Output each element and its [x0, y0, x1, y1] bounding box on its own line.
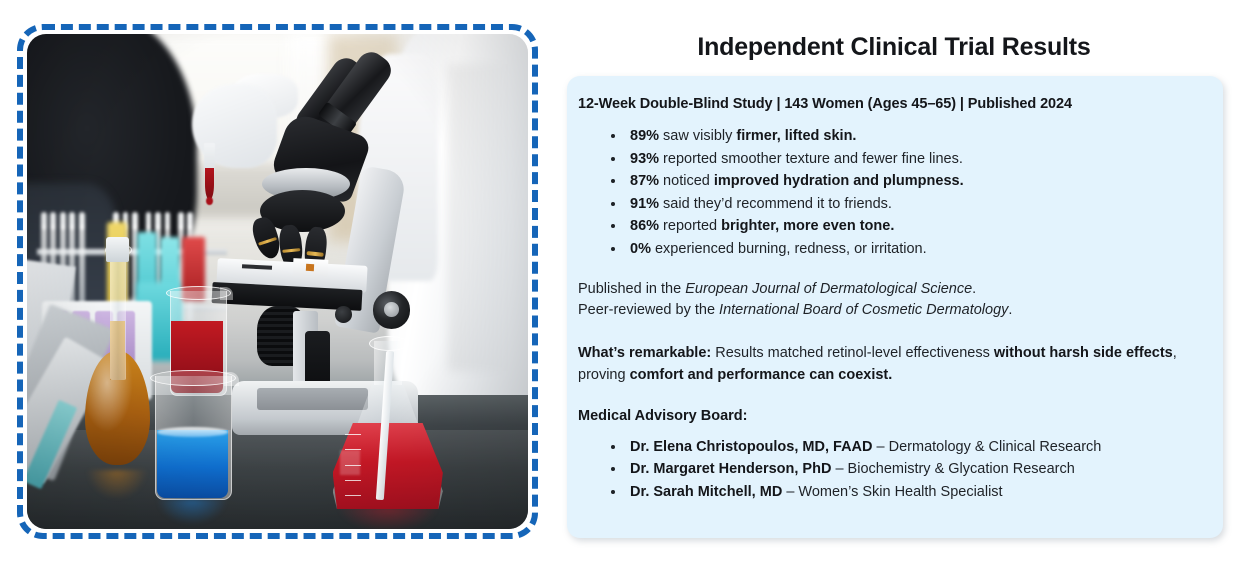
stat-text: reported smoother texture and fewer fine…: [659, 151, 963, 167]
list-item: 89% saw visibly firmer, lifted skin.: [626, 125, 1201, 148]
peer-review-suffix: .: [1008, 302, 1012, 318]
stat-emphasis: brighter, more even tone.: [721, 218, 894, 234]
peer-review-prefix: Peer-reviewed by the: [578, 302, 719, 318]
laboratory-microscope-photo: [27, 34, 528, 529]
publication-suffix: .: [972, 281, 976, 297]
list-item: Dr. Margaret Henderson, PhD – Biochemist…: [626, 458, 1201, 481]
advisory-board-list: Dr. Elena Christopoulos, MD, FAAD – Derm…: [578, 436, 1201, 504]
list-item: Dr. Elena Christopoulos, MD, FAAD – Derm…: [626, 436, 1201, 459]
publication-line-2: Peer-reviewed by the International Board…: [578, 300, 1201, 321]
stat-text: reported: [659, 218, 721, 234]
page-title: Independent Clinical Trial Results: [566, 33, 1222, 62]
publication-block: Published in the European Journal of Der…: [578, 279, 1201, 321]
publication-line-1: Published in the European Journal of Der…: [578, 279, 1201, 300]
remarkable-bold-1: without harsh side effects: [994, 345, 1173, 361]
stat-text: noticed: [659, 173, 714, 189]
trial-results-list: 89% saw visibly firmer, lifted skin. 93%…: [578, 125, 1201, 261]
stat-text: experienced burning, redness, or irritat…: [651, 241, 927, 257]
stat-percent: 87%: [630, 173, 659, 189]
remarkable-statement: What’s remarkable: Results matched retin…: [578, 342, 1178, 386]
board-member-name: Dr. Elena Christopoulos, MD, FAAD: [630, 439, 873, 455]
list-item: Dr. Sarah Mitchell, MD – Women’s Skin He…: [626, 481, 1201, 504]
list-item: 86% reported brighter, more even tone.: [626, 215, 1201, 238]
stat-emphasis: improved hydration and plumpness.: [714, 173, 964, 189]
stat-text: said they’d recommend it to friends.: [659, 196, 892, 212]
publication-prefix: Published in the: [578, 281, 685, 297]
photo-vignette: [27, 34, 528, 529]
board-member-name: Dr. Margaret Henderson, PhD: [630, 461, 831, 477]
list-item: 93% reported smoother texture and fewer …: [626, 148, 1201, 171]
review-board-name: International Board of Cosmetic Dermatol…: [719, 302, 1008, 318]
stat-percent: 89%: [630, 128, 659, 144]
board-member-role: – Women’s Skin Health Specialist: [782, 484, 1002, 500]
stat-percent: 0%: [630, 241, 651, 257]
board-member-name: Dr. Sarah Mitchell, MD: [630, 484, 782, 500]
list-item: 87% noticed improved hydration and plump…: [626, 170, 1201, 193]
stat-percent: 86%: [630, 218, 659, 234]
study-summary-line: 12-Week Double-Blind Study | 143 Women (…: [578, 96, 1201, 112]
advisory-board-heading: Medical Advisory Board:: [578, 408, 1201, 424]
stat-percent: 91%: [630, 196, 659, 212]
list-item: 91% said they’d recommend it to friends.: [626, 193, 1201, 216]
photo-frame: [17, 24, 538, 539]
board-member-role: – Dermatology & Clinical Research: [873, 439, 1102, 455]
page-root: Independent Clinical Trial Results 12-We…: [0, 0, 1254, 562]
stat-text: saw visibly: [659, 128, 736, 144]
remarkable-label: What’s remarkable:: [578, 345, 711, 361]
board-member-role: – Biochemistry & Glycation Research: [831, 461, 1074, 477]
clinical-results-panel: 12-Week Double-Blind Study | 143 Women (…: [567, 76, 1223, 538]
remarkable-bold-2: comfort and performance can coexist.: [630, 367, 893, 383]
journal-name: European Journal of Dermatological Scien…: [685, 281, 972, 297]
stat-percent: 93%: [630, 151, 659, 167]
list-item: 0% experienced burning, redness, or irri…: [626, 238, 1201, 261]
content-column: Independent Clinical Trial Results 12-We…: [566, 0, 1238, 562]
stat-emphasis: firmer, lifted skin.: [736, 128, 856, 144]
remarkable-text-1: Results matched retinol-level effectiven…: [711, 345, 994, 361]
